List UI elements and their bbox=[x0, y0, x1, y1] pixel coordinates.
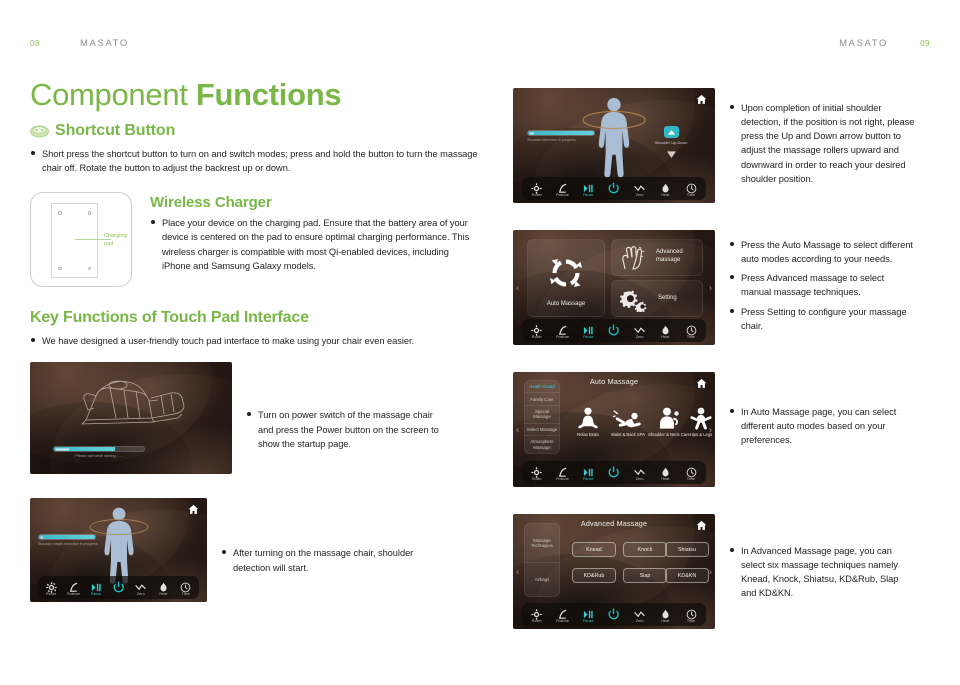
list-item: Turn on power switch of the massage chai… bbox=[246, 408, 447, 450]
startup-progress-group: ››››››››››››››››››››››››››››› Please wai… bbox=[53, 446, 145, 458]
list-item: Upon completion of initial shoulder dete… bbox=[729, 101, 915, 186]
toolbar-label: Zero bbox=[636, 619, 644, 623]
toolbar-label: Posture bbox=[556, 335, 569, 339]
touchpad-toolbar: Roller Posture Pause Power Zero bbox=[522, 461, 706, 484]
screw-hole-icon bbox=[58, 267, 62, 271]
toolbar-label: Pause bbox=[583, 335, 594, 339]
toolbar-item-heat[interactable]: Heat bbox=[654, 607, 677, 623]
power-icon bbox=[607, 324, 620, 337]
toolbar-label: Pause bbox=[91, 592, 102, 596]
startup-status-text: Please wait while starting ...... bbox=[53, 454, 145, 458]
mode-relax-brain[interactable]: Relax Brain bbox=[567, 406, 609, 437]
toolbar-item-roller[interactable]: Roller bbox=[41, 580, 61, 596]
power-icon bbox=[607, 466, 620, 479]
page-prev-arrow-icon[interactable]: ‹ bbox=[516, 567, 519, 576]
shoulder-progress-group: ››››››››› Shoulder detection in progress bbox=[527, 130, 595, 142]
toolbar-label: Posture bbox=[67, 592, 80, 596]
auto-massage-screen[interactable]: Auto Massage ‹ › Health Guard Family Car… bbox=[513, 372, 715, 487]
timer-clock-icon bbox=[686, 323, 697, 334]
sidebar-item-massage-techniques[interactable]: Massage Techniques bbox=[525, 524, 559, 563]
list-item: After turning on the massage chair, shou… bbox=[221, 546, 422, 574]
shoulder-adjust-screen[interactable]: ››››››››› Shoulder detection in progress… bbox=[513, 88, 715, 203]
chevron-up-icon bbox=[667, 128, 676, 137]
touchpad-toolbar: Roller Posture Pause Power Zero bbox=[522, 319, 706, 342]
main-menu-screen[interactable]: ‹ › Auto Massage bbox=[513, 230, 715, 345]
wireless-charger-bullet-list: Place your device on the charging pad. E… bbox=[150, 216, 480, 273]
zero-gravity-icon bbox=[135, 580, 146, 591]
brand-name-left: MASATO bbox=[80, 38, 129, 49]
progress-chevrons: ››››››››››››››››››››››››››››› bbox=[54, 447, 115, 451]
progress-bar-fill: ››››››››››››››››››››››››››››› bbox=[54, 447, 115, 451]
toolbar-label: Time bbox=[687, 193, 695, 197]
technique-kd-rub[interactable]: KD&Rub bbox=[572, 568, 616, 583]
toolbar-label: Heat bbox=[661, 335, 669, 339]
figure-startup: ››››››››››››››››››››››››››››› Please wai… bbox=[30, 362, 480, 474]
roller-gear-icon bbox=[531, 465, 542, 476]
shortcut-puck-icon bbox=[30, 125, 49, 138]
shoulder-down-button[interactable] bbox=[666, 146, 677, 155]
figure-main-menu: ‹ › Auto Massage bbox=[513, 230, 933, 345]
page-title-bold: Functions bbox=[196, 77, 341, 112]
list-item: Press the Auto Massage to select differe… bbox=[729, 238, 915, 266]
charging-pad-label: Charging pad bbox=[104, 233, 134, 248]
chevron-down-icon bbox=[666, 150, 677, 159]
progress-chevrons: ››››››››› bbox=[528, 131, 594, 135]
roller-gear-icon bbox=[46, 580, 57, 591]
toolbar-item-power[interactable]: Power bbox=[602, 182, 625, 195]
touchpad-toolbar: Roller Posture Pause Power Zero bbox=[38, 576, 199, 599]
page-title-regular: Component bbox=[30, 77, 196, 112]
auto-massage-category-sidebar: Health Guard Family Care Special Massage… bbox=[524, 380, 560, 454]
figure-shoulder-detection-caption: After turning on the massage chair, shou… bbox=[221, 546, 422, 574]
toolbar-item-time[interactable]: Time bbox=[679, 323, 702, 339]
stretching-person-icon bbox=[685, 406, 715, 430]
list-item: Place your device on the charging pad. E… bbox=[150, 216, 480, 273]
wireless-charger-section: Charging pad Wireless Charger Place your… bbox=[30, 192, 480, 287]
posture-icon bbox=[557, 181, 568, 192]
toolbar-label: Time bbox=[687, 477, 695, 481]
toolbar-item-time[interactable]: Time bbox=[679, 465, 702, 481]
power-icon bbox=[607, 608, 620, 621]
right-column: ››››››››› Shoulder detection in progress… bbox=[513, 88, 933, 656]
toolbar-item-power[interactable]: Power bbox=[602, 324, 625, 337]
figure-shoulder-adjust-caption: Upon completion of initial shoulder dete… bbox=[729, 101, 915, 186]
toolbar-item-roller[interactable]: Roller bbox=[525, 181, 548, 197]
toolbar-label: Heat bbox=[661, 619, 669, 623]
toolbar-item-pause[interactable]: Pause bbox=[577, 181, 600, 197]
toolbar-label: Zero bbox=[636, 193, 644, 197]
tile-label: Auto Massage bbox=[528, 301, 604, 309]
touchpad-toolbar: Roller Posture Pause Power Zero bbox=[522, 603, 706, 626]
shoulder-up-button[interactable] bbox=[664, 126, 679, 138]
power-icon bbox=[112, 581, 125, 594]
page-next-arrow-icon[interactable]: › bbox=[709, 283, 712, 292]
zero-gravity-icon bbox=[634, 465, 645, 476]
pause-icon bbox=[583, 607, 594, 618]
toolbar-item-roller[interactable]: Roller bbox=[525, 465, 548, 481]
lying-person-icon bbox=[607, 406, 649, 430]
hand-massage-icon bbox=[619, 246, 645, 271]
toolbar-item-time[interactable]: Time bbox=[679, 181, 702, 197]
toolbar-label: Pause bbox=[583, 619, 594, 623]
toolbar-item-roller[interactable]: Roller bbox=[525, 607, 548, 623]
shoulder-up-down-control[interactable]: Shoulder Up-Down bbox=[643, 126, 699, 155]
toolbar-label: Pause bbox=[583, 193, 594, 197]
startup-screen[interactable]: ››››››››››››››››››››››››››››› Please wai… bbox=[30, 362, 232, 474]
toolbar-item-power[interactable]: Power bbox=[108, 581, 128, 594]
tile-advanced-massage[interactable]: Advanced massage bbox=[611, 239, 703, 276]
shoulder-detection-screen[interactable]: ››››› Shoulder height detection in progr… bbox=[30, 498, 207, 602]
roller-gear-icon bbox=[531, 607, 542, 618]
toolbar-label: Zero bbox=[636, 477, 644, 481]
toolbar-item-zero[interactable]: Zero bbox=[628, 465, 651, 481]
shoulder-up-down-label: Shoulder Up-Down bbox=[643, 140, 699, 145]
shoulder-scan-arc-icon bbox=[88, 518, 150, 536]
tile-label: Advanced massage bbox=[656, 249, 702, 264]
body-silhouette-icon bbox=[591, 96, 637, 178]
list-item: Short press the shortcut button to turn … bbox=[30, 147, 480, 175]
technique-knead[interactable]: Knead bbox=[572, 542, 616, 557]
toolbar-label: Roller bbox=[532, 193, 542, 197]
shortcut-button-heading: Shortcut Button bbox=[30, 122, 480, 140]
zero-gravity-icon bbox=[634, 323, 645, 334]
progress-bar: ››››› bbox=[38, 534, 96, 540]
toolbar-label: Time bbox=[182, 592, 190, 596]
heat-flame-icon bbox=[660, 465, 671, 476]
home-icon[interactable] bbox=[188, 504, 199, 515]
shortcut-button-heading-label: Shortcut Button bbox=[55, 122, 175, 140]
key-functions-bullet-list: We have designed a user-friendly touch p… bbox=[30, 334, 480, 348]
screw-hole-icon bbox=[88, 267, 92, 271]
gears-icon bbox=[619, 287, 647, 312]
advanced-massage-screen[interactable]: Advanced Massage ‹ › Massage Techniques … bbox=[513, 514, 715, 629]
roller-gear-icon bbox=[531, 181, 542, 192]
heat-flame-icon bbox=[660, 607, 671, 618]
auto-cycle-icon bbox=[549, 256, 583, 290]
page-prev-arrow-icon[interactable]: ‹ bbox=[516, 283, 519, 292]
technique-knock[interactable]: Knock bbox=[623, 542, 667, 557]
progress-bar: ››››››››››››››››››››››››››››› bbox=[53, 446, 145, 452]
toolbar-item-posture[interactable]: Posture bbox=[63, 580, 83, 596]
pause-icon bbox=[583, 181, 594, 192]
technique-kd-kn[interactable]: KD&KN bbox=[665, 568, 709, 583]
toolbar-item-pause[interactable]: Pause bbox=[577, 607, 600, 623]
advanced-massage-category-sidebar: Massage Techniques Airbags bbox=[524, 523, 560, 597]
toolbar-item-zero[interactable]: Zero bbox=[628, 607, 651, 623]
sidebar-item-airbags[interactable]: Airbags bbox=[525, 563, 559, 596]
technique-slap[interactable]: Slap bbox=[623, 568, 667, 583]
sidebar-item-health-guard[interactable]: Health Guard bbox=[525, 381, 559, 393]
pause-icon bbox=[583, 323, 594, 334]
timer-clock-icon bbox=[686, 181, 697, 192]
list-item: We have designed a user-friendly touch p… bbox=[30, 334, 480, 348]
figure-startup-caption: Turn on power switch of the massage chai… bbox=[246, 408, 447, 450]
toolbar-item-roller[interactable]: Roller bbox=[525, 323, 548, 339]
toolbar-item-pause[interactable]: Pause bbox=[577, 465, 600, 481]
list-item: Press Advanced massage to select manual … bbox=[729, 271, 915, 299]
toolbar-label: Posture bbox=[556, 619, 569, 623]
page-number-right: 09 bbox=[920, 39, 930, 48]
home-icon[interactable] bbox=[696, 94, 707, 105]
toolbar-label: Heat bbox=[661, 477, 669, 481]
shoulder-status-text: Shoulder height detection in progress bbox=[38, 542, 96, 546]
toolbar-label: Zero bbox=[636, 335, 644, 339]
toolbar-label: Zero bbox=[137, 592, 145, 596]
figure-advanced-massage: Advanced Massage ‹ › Massage Techniques … bbox=[513, 514, 933, 629]
mode-waist-back-spa[interactable]: Waist & Back SPA bbox=[607, 406, 649, 437]
posture-icon bbox=[557, 323, 568, 334]
figure-shoulder-adjust: ››››››››› Shoulder detection in progress… bbox=[513, 88, 933, 203]
list-item: In Advanced Massage page, you can select… bbox=[729, 544, 915, 601]
toolbar-label: Time bbox=[687, 619, 695, 623]
home-icon[interactable] bbox=[696, 520, 707, 531]
progress-bar: ››››››››› bbox=[527, 130, 595, 136]
mode-label: Shoulder & Neck Care bbox=[648, 432, 690, 437]
timer-clock-icon bbox=[180, 580, 191, 591]
shoulder-person-icon bbox=[648, 406, 690, 430]
left-column: Component Functions Shortcut Button Shor… bbox=[30, 78, 480, 602]
screw-hole-icon bbox=[58, 211, 62, 215]
toolbar-label: Time bbox=[687, 335, 695, 339]
posture-icon bbox=[557, 607, 568, 618]
zero-gravity-icon bbox=[634, 607, 645, 618]
power-icon bbox=[607, 182, 620, 195]
sidebar-item-select-massage[interactable]: Select Massage bbox=[525, 424, 559, 436]
toolbar-label: Posture bbox=[556, 193, 569, 197]
page-header: 08 MASATO MASATO 09 bbox=[0, 36, 960, 58]
touchpad-toolbar: Roller Posture Pause Power Zero bbox=[522, 177, 706, 200]
toolbar-label: Heat bbox=[159, 592, 167, 596]
toolbar-item-zero[interactable]: Zero bbox=[131, 580, 151, 596]
home-icon[interactable] bbox=[696, 378, 707, 389]
heat-flame-icon bbox=[660, 181, 671, 192]
toolbar-item-pause[interactable]: Pause bbox=[86, 580, 106, 596]
toolbar-label: Roller bbox=[532, 335, 542, 339]
brand-name-right: MASATO bbox=[839, 38, 888, 49]
page-title: Component Functions bbox=[30, 78, 480, 112]
toolbar-item-zero[interactable]: Zero bbox=[628, 181, 651, 197]
timer-clock-icon bbox=[686, 607, 697, 618]
toolbar-item-time[interactable]: Time bbox=[176, 580, 196, 596]
figure-shoulder-detection: ››››› Shoulder height detection in progr… bbox=[30, 498, 480, 602]
figure-advanced-massage-caption: In Advanced Massage page, you can select… bbox=[729, 544, 915, 601]
progress-bar-fill: ››››››››› bbox=[528, 131, 594, 135]
shoulder-status-text: Shoulder detection in progress bbox=[527, 138, 595, 142]
mode-shoulder-neck-care[interactable]: Shoulder & Neck Care bbox=[648, 406, 690, 437]
mode-label: Hips & Legs bbox=[685, 432, 715, 437]
roller-gear-icon bbox=[531, 323, 542, 334]
toolbar-item-posture[interactable]: Posture bbox=[551, 323, 574, 339]
heat-flame-icon bbox=[660, 323, 671, 334]
shoulder-scan-arc-icon bbox=[581, 110, 647, 130]
meditation-icon bbox=[567, 406, 609, 430]
posture-icon bbox=[68, 580, 79, 591]
wireless-charger-heading: Wireless Charger bbox=[150, 194, 480, 211]
heat-flame-icon bbox=[158, 580, 169, 591]
shortcut-bullet-list: Short press the shortcut button to turn … bbox=[30, 147, 480, 175]
toolbar-item-time[interactable]: Time bbox=[679, 607, 702, 623]
toolbar-label: Roller bbox=[532, 477, 542, 481]
figure-main-menu-caption: Press the Auto Massage to select differe… bbox=[729, 238, 915, 333]
pause-icon bbox=[583, 465, 594, 476]
mode-hips-legs[interactable]: Hips & Legs bbox=[685, 406, 715, 437]
pause-icon bbox=[91, 580, 102, 591]
progress-bar-fill: ››››› bbox=[39, 535, 95, 539]
toolbar-item-pause[interactable]: Pause bbox=[577, 323, 600, 339]
sidebar-item-special-massage[interactable]: Special Massage bbox=[525, 406, 559, 424]
technique-shiatsu[interactable]: Shiatsu bbox=[665, 542, 709, 557]
timer-clock-icon bbox=[686, 465, 697, 476]
mode-label: Waist & Back SPA bbox=[607, 432, 649, 437]
toolbar-label: Roller bbox=[46, 592, 56, 596]
page-number-left: 08 bbox=[30, 39, 40, 48]
posture-icon bbox=[557, 465, 568, 476]
toolbar-item-posture[interactable]: Posture bbox=[551, 465, 574, 481]
charging-pad-diagram: Charging pad bbox=[30, 192, 132, 287]
toolbar-item-power[interactable]: Power bbox=[602, 608, 625, 621]
figure-auto-massage: Auto Massage ‹ › Health Guard Family Car… bbox=[513, 372, 933, 487]
tile-label: Setting bbox=[658, 295, 677, 303]
figure-auto-massage-caption: In Auto Massage page, you can select dif… bbox=[729, 405, 915, 447]
toolbar-item-heat[interactable]: Heat bbox=[654, 181, 677, 197]
toolbar-item-power[interactable]: Power bbox=[602, 466, 625, 479]
shoulder-progress-group: ››››› Shoulder height detection in progr… bbox=[38, 534, 96, 546]
key-functions-heading: Key Functions of Touch Pad Interface bbox=[30, 309, 480, 327]
list-item: In Auto Massage page, you can select dif… bbox=[729, 405, 915, 447]
toolbar-label: Pause bbox=[583, 477, 594, 481]
tile-setting[interactable]: Setting bbox=[611, 280, 703, 317]
list-item: Press Setting to configure your massage … bbox=[729, 305, 915, 333]
toolbar-item-zero[interactable]: Zero bbox=[628, 323, 651, 339]
zero-gravity-icon bbox=[634, 181, 645, 192]
toolbar-label: Heat bbox=[661, 193, 669, 197]
toolbar-item-posture[interactable]: Posture bbox=[551, 181, 574, 197]
progress-chevrons: ››››› bbox=[39, 535, 95, 539]
toolbar-item-heat[interactable]: Heat bbox=[654, 465, 677, 481]
mode-label: Relax Brain bbox=[567, 432, 609, 437]
toolbar-item-heat[interactable]: Heat bbox=[153, 580, 173, 596]
page-next-arrow-icon[interactable]: › bbox=[709, 567, 712, 576]
toolbar-item-heat[interactable]: Heat bbox=[654, 323, 677, 339]
toolbar-label: Posture bbox=[556, 477, 569, 481]
sidebar-item-atmosphere-massage[interactable]: Atmosphere Massage bbox=[525, 436, 559, 453]
tile-auto-massage[interactable]: Auto Massage bbox=[527, 239, 605, 317]
sidebar-item-family-care[interactable]: Family Care bbox=[525, 393, 559, 405]
screw-hole-icon bbox=[88, 211, 92, 215]
massage-chair-outline-icon bbox=[66, 370, 196, 432]
page-prev-arrow-icon[interactable]: ‹ bbox=[516, 425, 519, 434]
toolbar-item-posture[interactable]: Posture bbox=[551, 607, 574, 623]
charging-pad-plate bbox=[51, 203, 98, 278]
toolbar-label: Roller bbox=[532, 619, 542, 623]
